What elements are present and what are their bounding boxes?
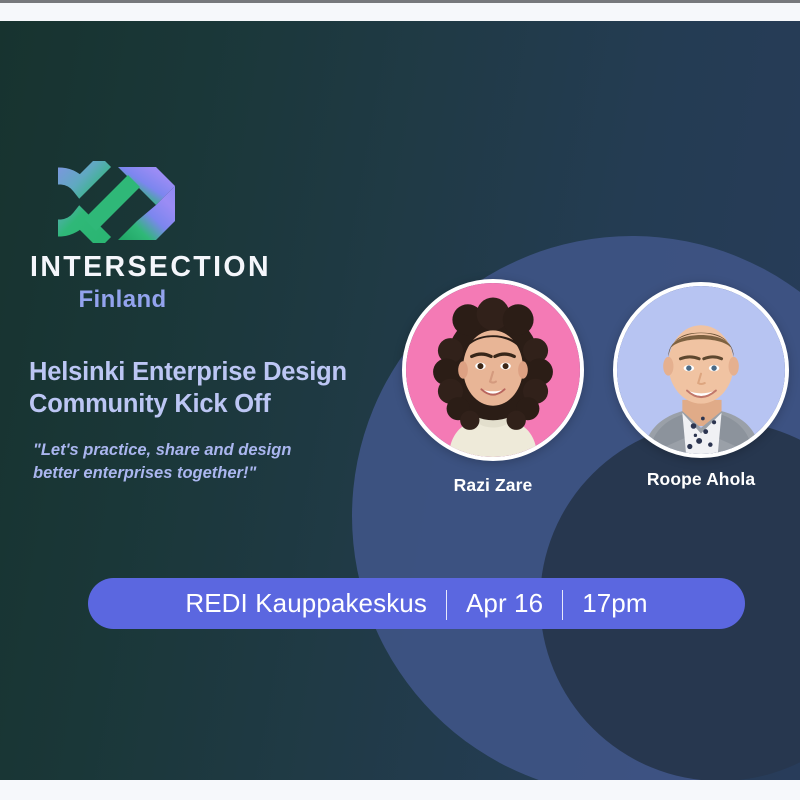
speaker-photo-roope-ahola xyxy=(617,286,785,454)
bottom-white-strip xyxy=(0,780,800,800)
avatar xyxy=(402,279,584,461)
speaker-name: Roope Ahola xyxy=(647,469,755,490)
avatar xyxy=(613,282,789,458)
event-time: 17pm xyxy=(582,588,647,619)
cta-separator-1 xyxy=(446,590,447,620)
cta-separator-2 xyxy=(562,590,563,620)
speaker-name: Razi Zare xyxy=(454,475,533,496)
logo-wordmark: INTERSECTION xyxy=(30,253,215,283)
headline-line-2: Community Kick Off xyxy=(29,389,409,421)
brand-logo-block: INTERSECTION Finland xyxy=(30,161,360,314)
tagline-line-2: better enterprises together!" xyxy=(33,462,363,485)
logo-sub-wordmark: Finland xyxy=(30,286,215,314)
poster-headline: Helsinki Enterprise Design Community Kic… xyxy=(29,357,409,420)
speaker-card-roope-ahola: Roope Ahola xyxy=(606,279,796,496)
screenshot-viewport: INTERSECTION Finland Helsinki Enterprise… xyxy=(0,0,800,800)
speakers-row: Razi Zare xyxy=(398,279,798,496)
event-venue: REDI Kauppakeskus xyxy=(185,588,427,619)
speaker-card-razi-zare: Razi Zare xyxy=(398,279,588,496)
headline-line-1: Helsinki Enterprise Design xyxy=(29,357,409,389)
event-details-pill[interactable]: REDI Kauppakeskus Apr 16 17pm xyxy=(88,578,745,629)
tagline-line-1: "Let's practice, share and design xyxy=(33,439,363,462)
poster-tagline: "Let's practice, share and design better… xyxy=(33,439,363,485)
event-poster: INTERSECTION Finland Helsinki Enterprise… xyxy=(0,21,800,780)
speaker-photo-razi-zare xyxy=(406,283,580,457)
top-white-strip xyxy=(0,3,800,21)
event-date: Apr 16 xyxy=(466,588,543,619)
intersection-infinity-logo-icon xyxy=(58,161,182,243)
